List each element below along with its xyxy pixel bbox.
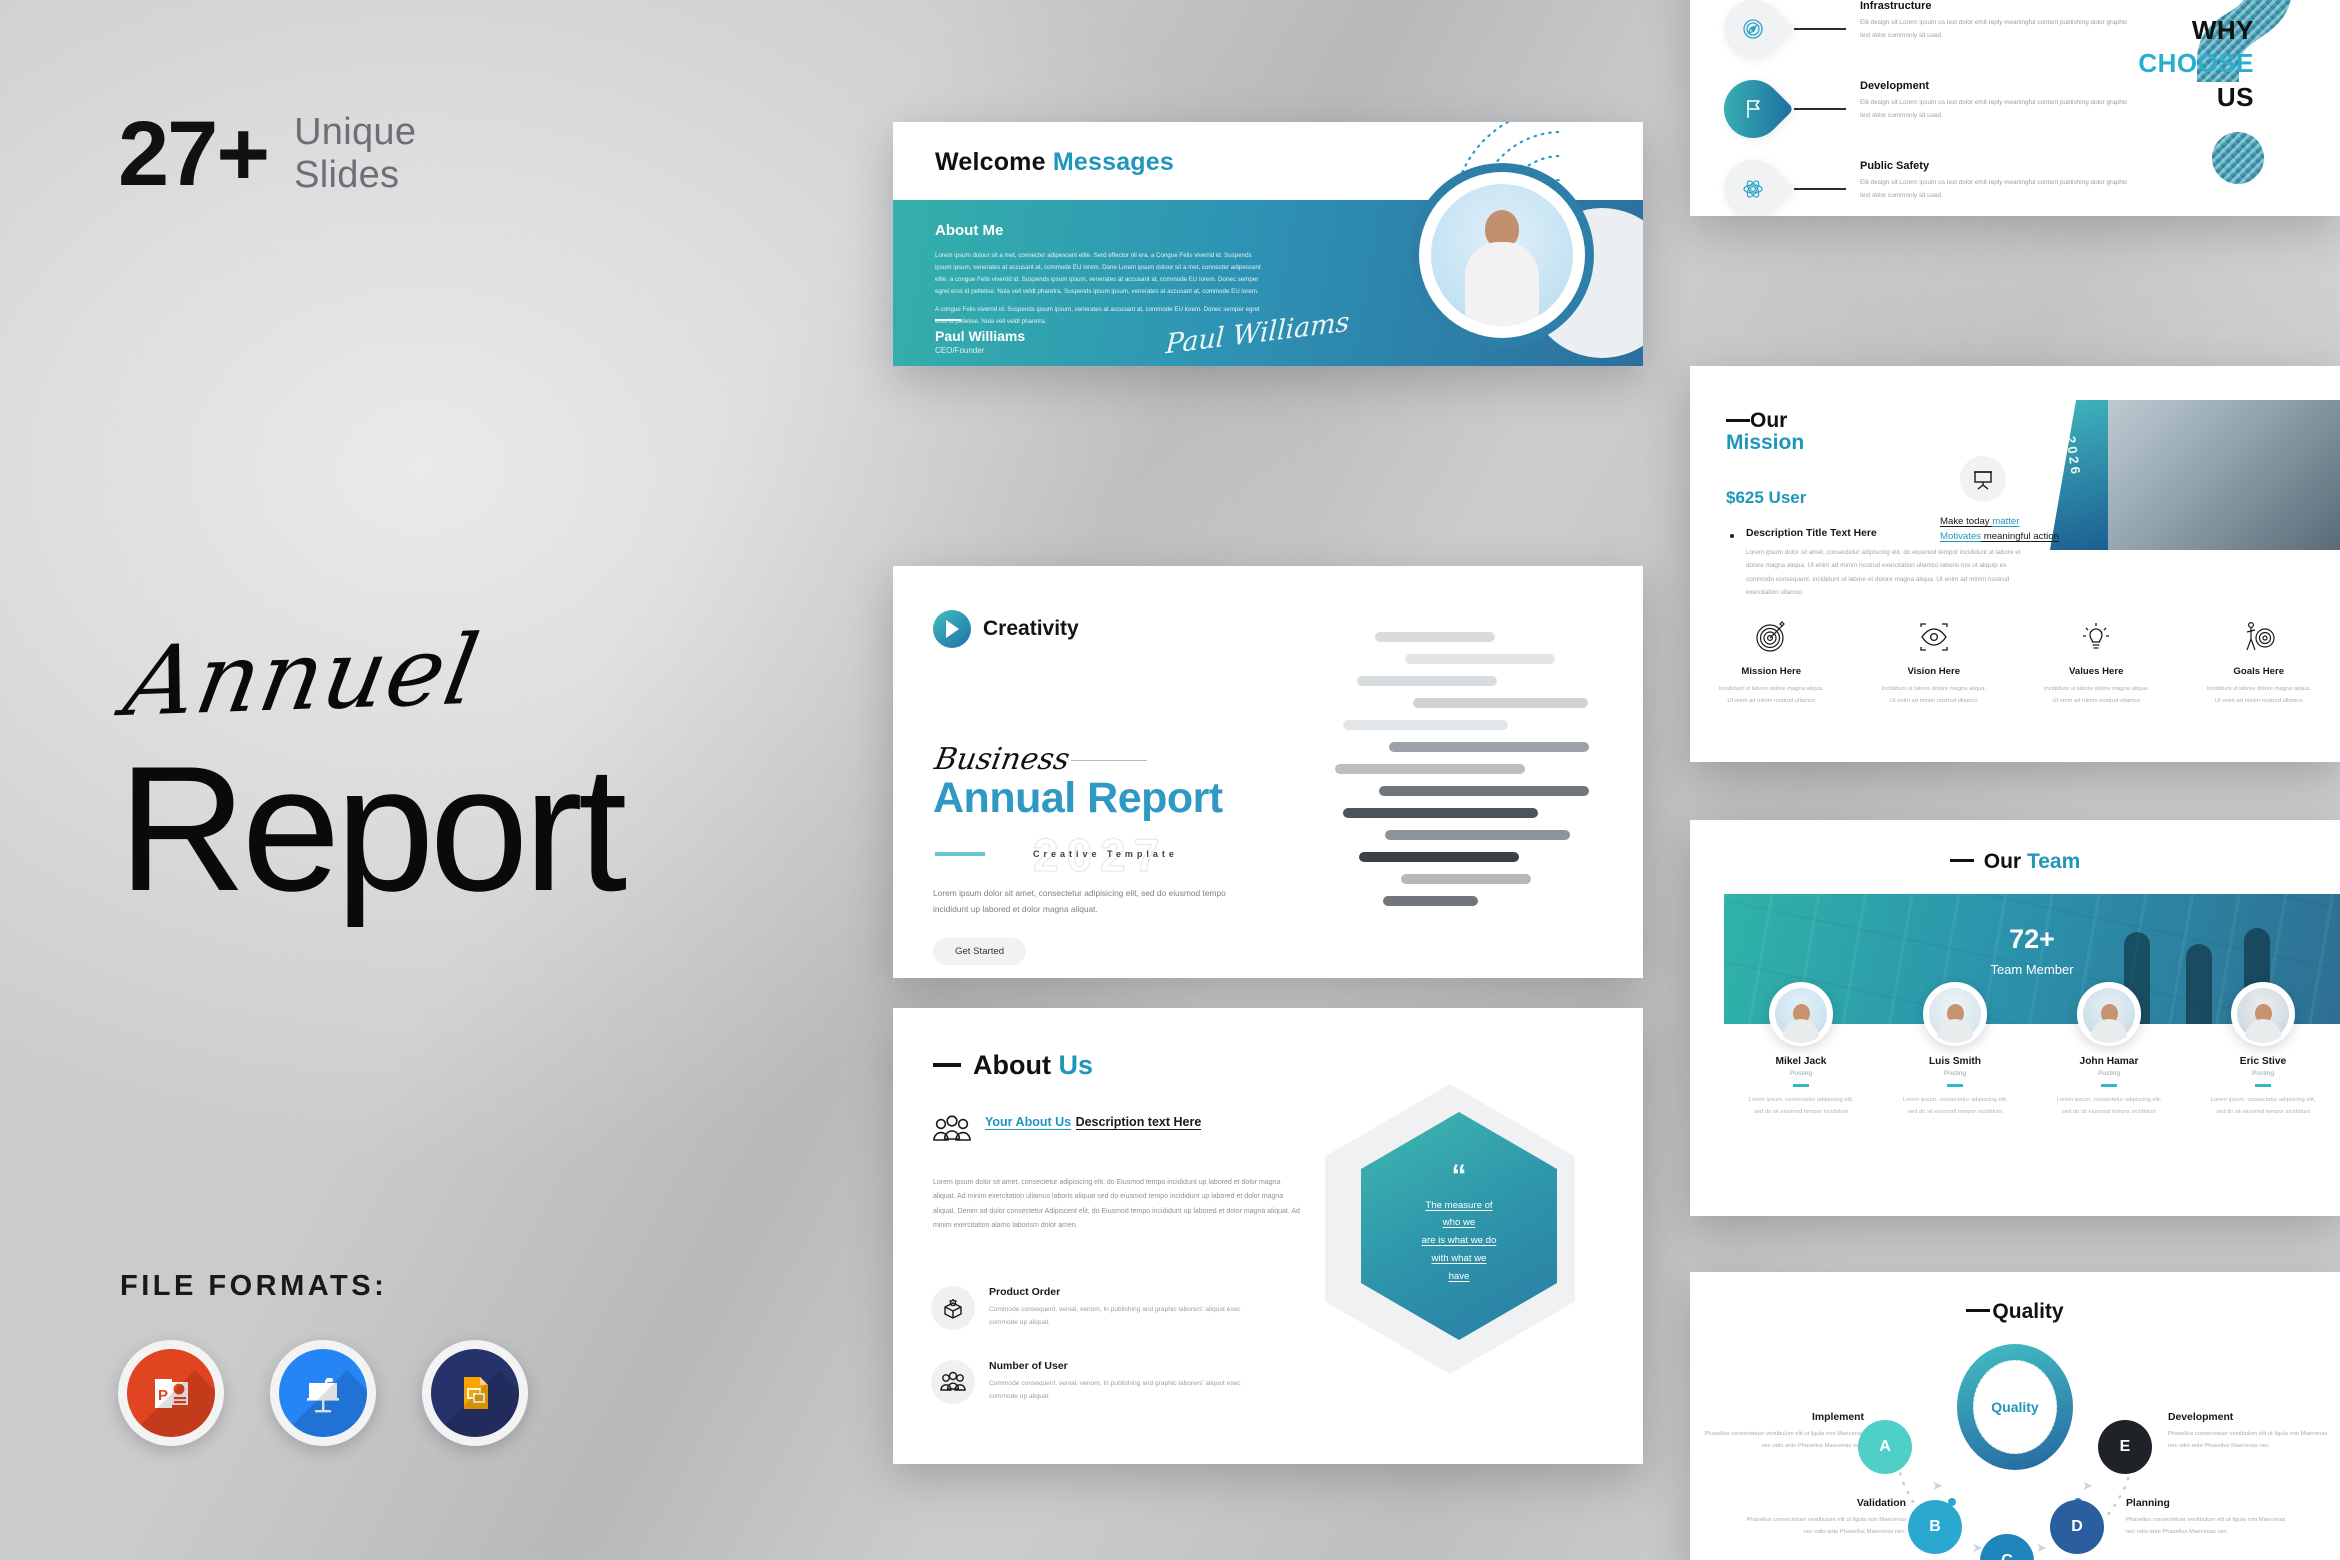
avatar — [1769, 982, 1833, 1046]
quality-node-a[interactable]: A — [1858, 1420, 1912, 1474]
pillar-text: Incididunt ut labore dolore magna aliqua… — [2015, 683, 2178, 707]
motto-line-2a: Motivates — [1940, 531, 1981, 542]
team-count: 72+ — [1724, 924, 2340, 955]
cover-main-title: Annual Report — [933, 774, 1223, 823]
play-mark-icon — [933, 610, 971, 648]
member-role: Posting — [1878, 1070, 2032, 1077]
member-role: Posting — [2186, 1070, 2340, 1077]
member-name: John Hamar — [2032, 1056, 2186, 1067]
team-title: Our Team — [1690, 850, 2340, 874]
brand-name: Creativity — [983, 617, 1079, 641]
node-label: Implement — [1704, 1412, 1864, 1423]
connector-line — [1794, 188, 1846, 190]
pillar-goals: Goals Here Incididunt ut labore dolore m… — [2178, 616, 2340, 707]
pillar-text: Incididunt ut labore dolore magna aliqua… — [1853, 683, 2016, 707]
google-slides-icon — [422, 1340, 528, 1446]
person-target-icon — [2178, 616, 2340, 658]
feature-number-of-user: Number of User Commode consequent. venia… — [931, 1360, 1261, 1404]
pillar-title: Goals Here — [2178, 666, 2340, 677]
team-member: Mikel Jack Posting Lorem ipsum, consecte… — [1724, 982, 1878, 1118]
pillar-mission: Mission Here Incididunt ut labore dolore… — [1690, 616, 1853, 707]
member-text: Lorem ipsum, consectetur adipiscing elit… — [2186, 1094, 2340, 1118]
pillar-text: Incididunt ut labore dolore magna aliqua… — [1690, 683, 1853, 707]
compass-icon — [1712, 0, 1794, 70]
mission-pillars: Mission Here Incididunt ut labore dolore… — [1690, 616, 2340, 707]
about-us-title-accent: Us — [1058, 1050, 1093, 1080]
member-role: Posting — [1724, 1070, 1878, 1077]
why-line-1: WHY — [2138, 14, 2254, 47]
arrow-icon: ➤ — [2036, 1540, 2047, 1556]
member-name: Eric Stive — [2186, 1056, 2340, 1067]
quality-label-validation: Validation Phasellus consectetuer vestib… — [1746, 1498, 1906, 1538]
promo-headline: Report — [118, 740, 622, 918]
mission-title-line1: Our — [1750, 409, 1787, 432]
pillar-title: Values Here — [2015, 666, 2178, 677]
mission-title: Our Mission — [1726, 410, 1804, 454]
slide-why-choose-us[interactable]: Infrastructure Elit design sit Lorem ips… — [1690, 0, 2340, 216]
avatar — [1419, 172, 1585, 338]
slide-count-number: 27+ — [118, 108, 268, 200]
cover-script-rule — [1071, 760, 1147, 761]
member-name: Luis Smith — [1878, 1056, 2032, 1067]
quote-text: The measure of who we are is what we do … — [1422, 1197, 1497, 1286]
quality-title-text: Quality — [1992, 1300, 2063, 1323]
motto-line-2b: meaningful action — [1981, 531, 2059, 542]
promo-panel: 27+ Unique Slides Annuel Report FILE FOR… — [0, 0, 900, 1560]
node-text: Phasellus consectetuer vestibulum elit u… — [1746, 1514, 1906, 1538]
mission-image: 2026 — [2050, 400, 2340, 550]
lightbulb-icon — [2015, 616, 2178, 658]
get-started-button[interactable]: Get Started — [933, 938, 1026, 965]
about-us-subheading: Your About Us Description text Here — [985, 1112, 1201, 1131]
title-dash — [1950, 859, 1974, 862]
why-line-2: CHOOSE — [2138, 47, 2254, 80]
decorative-stripe-sphere — [1313, 618, 1633, 938]
title-dash — [1726, 419, 1750, 422]
cover-subtitle: Creative Template — [1033, 849, 1178, 859]
slide-about-us[interactable]: About Us Your About Us Description text … — [893, 1008, 1643, 1464]
product-box-icon — [931, 1286, 975, 1330]
users-group-icon — [931, 1360, 975, 1404]
feature-title: Product Order — [989, 1286, 1261, 1298]
pillar-title: Vision Here — [1853, 666, 2016, 677]
quality-node-d[interactable]: D — [2050, 1500, 2104, 1554]
about-us-subheading-line1: Your About Us — [985, 1115, 1071, 1130]
bullet-dot-icon — [1730, 534, 1734, 538]
about-me-heading: About Me — [935, 222, 1003, 239]
slide-count-label-line2: Slides — [294, 154, 416, 197]
slide-welcome-messages[interactable]: Welcome Messages About Me Lorem ipsum do… — [893, 122, 1643, 366]
node-text: Phasellus consectetuer vestibulum elit u… — [2168, 1428, 2328, 1452]
flag-icon — [1712, 68, 1794, 150]
promo-script-word: Annuel — [117, 614, 488, 738]
eye-focus-icon — [1853, 616, 2016, 658]
connector-line — [1794, 108, 1846, 110]
slide-count-label-line1: Unique — [294, 111, 416, 154]
team-title-accent: Team — [2027, 850, 2080, 873]
quality-title: Quality — [1690, 1300, 2340, 1324]
quality-node-b[interactable]: B — [1908, 1500, 1962, 1554]
node-text: Phasellus consectetuer vestibulum elit u… — [1704, 1428, 1864, 1452]
node-label: Planning — [2126, 1498, 2286, 1509]
team-member: Luis Smith Posting Lorem ipsum, consecte… — [1878, 982, 2032, 1118]
why-choose-us-heading: WHY CHOOSE US — [2138, 14, 2254, 114]
node-letter: B — [1929, 1518, 1941, 1536]
powerpoint-icon: P — [118, 1340, 224, 1446]
node-label: Development — [2168, 1412, 2328, 1423]
member-divider — [2101, 1084, 2117, 1087]
quote-line: who we — [1422, 1214, 1497, 1232]
quote-hexagon-block: “ The measure of who we are is what we d… — [1299, 1066, 1629, 1396]
member-text: Lorem ipsum, consectetur adipiscing elit… — [2032, 1094, 2186, 1118]
member-divider — [1947, 1084, 1963, 1087]
name-rule — [935, 319, 961, 321]
feature-text: Commode consequent. venial, venom, In pu… — [989, 1377, 1261, 1403]
quote-line: The measure of — [1422, 1197, 1497, 1215]
person-name: Paul Williams — [935, 328, 1025, 344]
slide-annual-report-cover[interactable]: Creativity Business Annual Report 2027 C… — [893, 566, 1643, 978]
why-line-3: US — [2138, 81, 2254, 114]
quality-center-label: Quality — [1991, 1399, 2038, 1415]
member-divider — [1793, 1084, 1809, 1087]
quality-label-planning: Planning Phasellus consectetuer vestibul… — [2126, 1498, 2286, 1538]
team-member-list: Mikel Jack Posting Lorem ipsum, consecte… — [1724, 982, 2340, 1118]
team-member: John Hamar Posting Lorem ipsum, consecte… — [2032, 982, 2186, 1118]
feature-title: Number of User — [989, 1360, 1261, 1372]
slide-our-team[interactable]: Our Team 72+ Team Member Mikel Jack Post… — [1690, 820, 2340, 1216]
slide-our-mission[interactable]: Our Mission $625 User Description Title … — [1690, 366, 2340, 762]
title-dash — [933, 1063, 961, 1067]
connector-line — [1794, 28, 1846, 30]
mission-price: $625 User — [1726, 488, 1806, 508]
title-dash — [1966, 1309, 1990, 1312]
about-us-subheading-line2: Description text Here — [1076, 1115, 1202, 1130]
quality-node-c[interactable]: C — [1980, 1534, 2034, 1560]
about-me-paragraph-1: Lorem ipsum dolour sit a met, connecter … — [935, 250, 1265, 298]
svg-text:P: P — [158, 1387, 168, 1404]
quote-line: with what we — [1422, 1250, 1497, 1268]
about-me-body: Lorem ipsum dolour sit a met, connecter … — [935, 250, 1265, 335]
arrow-icon: ➤ — [2082, 1478, 2093, 1494]
avatar — [2231, 982, 2295, 1046]
slide-count-block: 27+ Unique Slides — [118, 108, 416, 200]
cover-script-word: Business — [932, 742, 1072, 777]
feature-product-order: Product Order Commode consequent. venial… — [931, 1286, 1261, 1330]
about-us-body: Lorem ipsum dolor sit amet, consectetur … — [933, 1176, 1303, 1233]
quality-label-development: Development Phasellus consectetuer vesti… — [2168, 1412, 2328, 1452]
pillar-values: Values Here Incididunt ut labore dolore … — [2015, 616, 2178, 707]
pillar-text: Incididunt ut labore dolore magna aliqua… — [2178, 683, 2340, 707]
slide-welcome-title-accent: Messages — [1053, 148, 1174, 176]
quote-mark-icon: “ — [1452, 1167, 1467, 1185]
file-formats-label: FILE FORMATS: — [120, 1270, 387, 1303]
slide-count-label: Unique Slides — [294, 111, 416, 196]
slide-welcome-title-dark: Welcome — [935, 148, 1046, 176]
mission-motto: Make today matter Motivates meaningful a… — [1940, 514, 2059, 545]
node-letter: C — [2001, 1552, 2013, 1560]
team-title-dark: Our — [1984, 850, 2021, 873]
member-role: Posting — [2032, 1070, 2186, 1077]
brand-logo: Creativity — [933, 610, 1079, 648]
slide-quality[interactable]: Quality Quality A B C D E ➤ ➤ ➤ ➤ Implem… — [1690, 1272, 2340, 1560]
file-formats-list: P — [118, 1340, 528, 1446]
avatar — [1923, 982, 1987, 1046]
team-count-label: Team Member — [1724, 962, 2340, 977]
member-text: Lorem ipsum, consectetur adipiscing elit… — [1878, 1094, 2032, 1118]
team-member: Eric Stive Posting Lorem ipsum, consecte… — [2186, 982, 2340, 1118]
users-group-icon — [931, 1114, 973, 1146]
node-letter: E — [2120, 1438, 2131, 1456]
about-us-title-dark: About — [973, 1050, 1051, 1080]
avatar — [2077, 982, 2141, 1046]
person-role: CEO/Founder — [935, 346, 984, 355]
member-divider — [2255, 1084, 2271, 1087]
motto-line-1b: matter — [1992, 516, 2019, 527]
arrow-icon: ➤ — [1932, 1478, 1943, 1494]
node-letter: A — [1879, 1438, 1891, 1456]
quality-label-implement: Implement Phasellus consectetuer vestibu… — [1704, 1412, 1864, 1452]
keynote-icon — [270, 1340, 376, 1446]
mission-title-line2: Mission — [1726, 432, 1804, 454]
quote-line: have — [1422, 1268, 1497, 1286]
mission-bullet-text: Lorem ipsum dolor sit amet, consectetur … — [1746, 546, 2026, 600]
pillar-title: Mission Here — [1690, 666, 1853, 677]
projector-screen-icon — [1960, 456, 2006, 502]
node-letter: D — [2071, 1518, 2083, 1536]
atom-icon — [1712, 148, 1794, 216]
target-icon — [1690, 616, 1853, 658]
member-name: Mikel Jack — [1724, 1056, 1878, 1067]
about-us-title: About Us — [933, 1050, 1093, 1081]
cover-accent-bar — [935, 852, 985, 856]
cover-description: Lorem ipsum dolor sit amet, consectetur … — [933, 886, 1263, 917]
node-text: Phasellus consectetuer vestibulum elit u… — [2126, 1514, 2286, 1538]
feature-text: Commode consequent. venial, venom, In pu… — [989, 1303, 1261, 1329]
quote-line: are is what we do — [1422, 1232, 1497, 1250]
pillar-vision: Vision Here Incididunt ut labore dolore … — [1853, 616, 2016, 707]
motto-line-1a: Make today — [1940, 516, 1992, 527]
arrow-icon: ➤ — [1972, 1540, 1983, 1556]
member-text: Lorem ipsum, consectetur adipiscing elit… — [1724, 1094, 1878, 1118]
quality-node-e[interactable]: E — [2098, 1420, 2152, 1474]
node-label: Validation — [1746, 1498, 1906, 1509]
